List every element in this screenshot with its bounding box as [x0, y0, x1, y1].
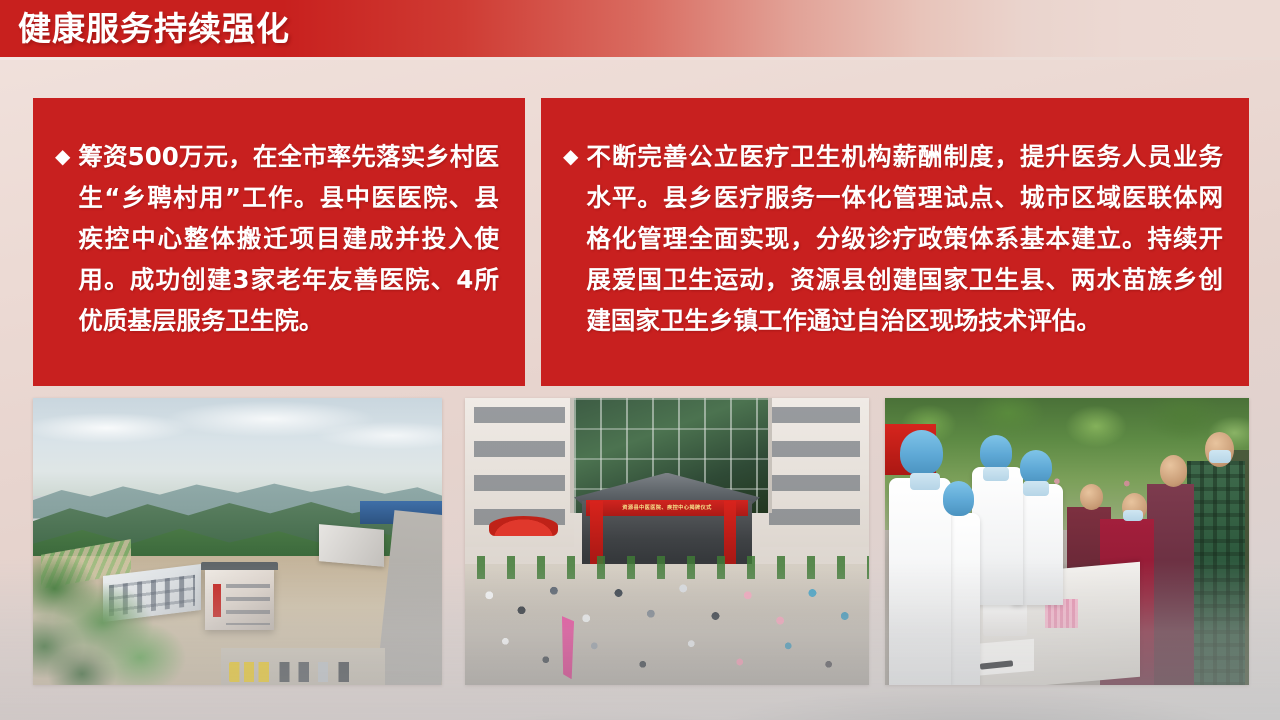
tiled-roof — [201, 562, 279, 571]
content-box-left-inner: ◆ 筹资500万元，在全市率先落实乡村医生“乡聘村用”工作。县中医医院、县疾控中… — [33, 98, 525, 361]
face-mask-3 — [1123, 510, 1143, 521]
diamond-bullet-icon: ◆ — [55, 136, 70, 176]
background-building — [319, 524, 384, 567]
right-wing — [760, 398, 869, 547]
diamond-bullet-icon: ◆ — [563, 136, 578, 176]
page-title: 健康服务持续强化 — [18, 5, 290, 53]
face-mask-1 — [1209, 450, 1231, 463]
red-umbrella — [489, 516, 558, 536]
resident-head-4 — [1080, 484, 1104, 510]
content-box-right: ◆ 不断完善公立医疗卫生机构薪酬制度，提升医务人员业务水平。县乡医疗服务一体化管… — [541, 98, 1249, 386]
photo-free-clinic — [885, 398, 1249, 685]
doctor-face-mask-3 — [983, 467, 1008, 481]
doctor-face-mask-1 — [910, 473, 939, 490]
hospital-main-building — [205, 567, 275, 630]
surgical-cap-icon-2 — [943, 481, 974, 515]
surgical-cap-icon-1 — [900, 430, 944, 476]
audience-crowd — [465, 570, 869, 685]
photo-3-scene — [885, 398, 1249, 685]
photo-aerial-hospital-campus — [33, 398, 442, 685]
surgical-cap-icon-3 — [980, 435, 1013, 469]
clouds — [33, 398, 442, 473]
foreground-trees — [33, 547, 188, 685]
photo-1-scene — [33, 398, 442, 685]
content-box-left: ◆ 筹资500万元，在全市率先落实乡村医生“乡聘村用”工作。县中医医院、县疾控中… — [33, 98, 525, 386]
header-underline — [0, 57, 1280, 60]
resident-plaid-jacket — [1187, 461, 1245, 685]
slide-canvas: 健康服务持续强化 ◆ 筹资500万元，在全市率先落实乡村医生“乡聘村用”工作。县… — [0, 0, 1280, 720]
content-box-right-text: 不断完善公立医疗卫生机构薪酬制度，提升医务人员业务水平。县乡医疗服务一体化管理试… — [586, 136, 1223, 341]
parked-vehicles — [229, 662, 376, 682]
resident-head-2 — [1160, 455, 1187, 487]
content-box-right-inner: ◆ 不断完善公立医疗卫生机构薪酬制度，提升医务人员业务水平。县乡医疗服务一体化管… — [541, 98, 1249, 361]
surgical-cap-icon-4 — [1020, 450, 1053, 484]
doctor-white-coat-3 — [972, 467, 1023, 605]
content-box-left-text: 筹资500万元，在全市率先落实乡村医生“乡聘村用”工作。县中医医院、县疾控中心整… — [78, 136, 499, 341]
red-vertical-sign — [213, 584, 221, 617]
photo-2-scene: 资源县中医医院、疾控中心揭牌仪式 — [465, 398, 869, 685]
photo-opening-ceremony: 资源县中医医院、疾控中心揭牌仪式 — [465, 398, 869, 685]
doctor-white-coat-1 — [889, 478, 951, 685]
doctor-face-mask-4 — [1023, 481, 1048, 495]
